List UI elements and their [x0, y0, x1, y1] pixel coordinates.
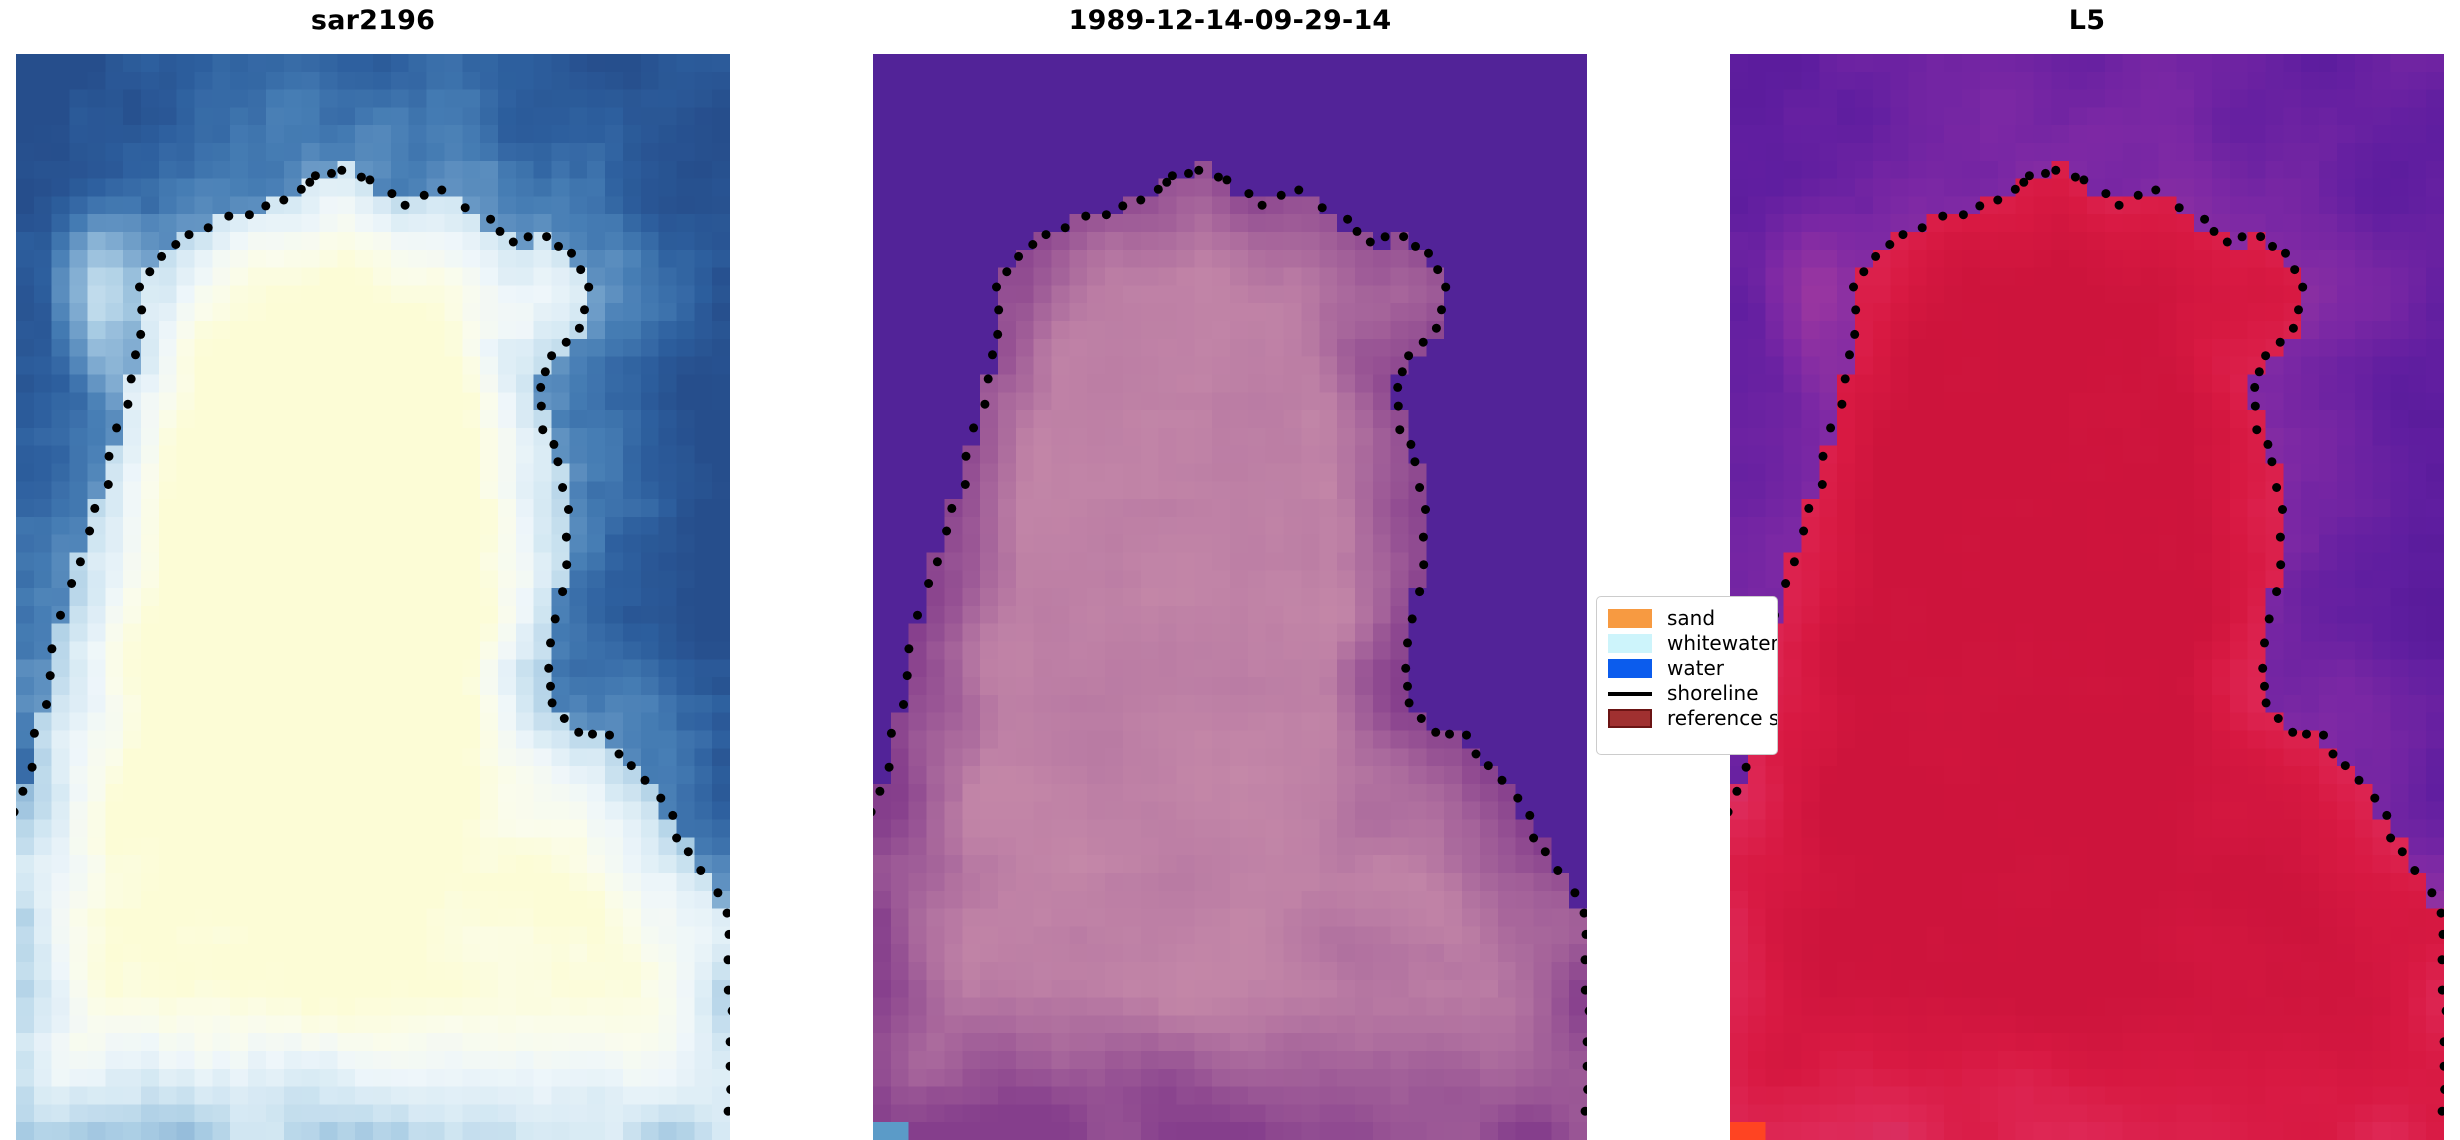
classified-raster-image: [873, 54, 1587, 1140]
legend-swatch-shoreline: [1608, 692, 1652, 696]
legend-item-water[interactable]: water: [1608, 656, 1766, 681]
sar-raster-image: [16, 54, 730, 1140]
legend-label-shoreline: shoreline: [1667, 681, 1759, 706]
legend-label-whitewater: whitewater: [1667, 631, 1778, 656]
panel-title-l5: L5: [1730, 4, 2444, 38]
legend-label-reference-shoreline: reference shoreline: [1667, 706, 1778, 731]
panel-l5[interactable]: [1730, 54, 2444, 1140]
legend-swatch-reference-shoreline: [1608, 709, 1652, 728]
legend-label-sand: sand: [1667, 606, 1715, 631]
panel-sar[interactable]: [16, 54, 730, 1140]
legend-swatch-water: [1608, 659, 1652, 678]
legend-item-whitewater[interactable]: whitewater: [1608, 631, 1766, 656]
panel-title-sar: sar2196: [16, 4, 730, 38]
legend-swatch-whitewater: [1608, 634, 1652, 653]
panel-classified[interactable]: [873, 54, 1587, 1140]
figure-canvas: sar2196 1989-12-14-09-29-14 L5 sand whit…: [0, 0, 2460, 1140]
legend-item-shoreline[interactable]: shoreline: [1608, 681, 1766, 706]
l5-raster-image: [1730, 54, 2444, 1140]
legend-swatch-sand: [1608, 609, 1652, 628]
legend-item-reference-shoreline[interactable]: reference shoreline: [1608, 706, 1766, 731]
panel-title-classified: 1989-12-14-09-29-14: [873, 4, 1587, 38]
legend-label-water: water: [1667, 656, 1724, 681]
legend-item-sand[interactable]: sand: [1608, 606, 1766, 631]
legend[interactable]: sand whitewater water shoreline referenc…: [1596, 596, 1778, 755]
